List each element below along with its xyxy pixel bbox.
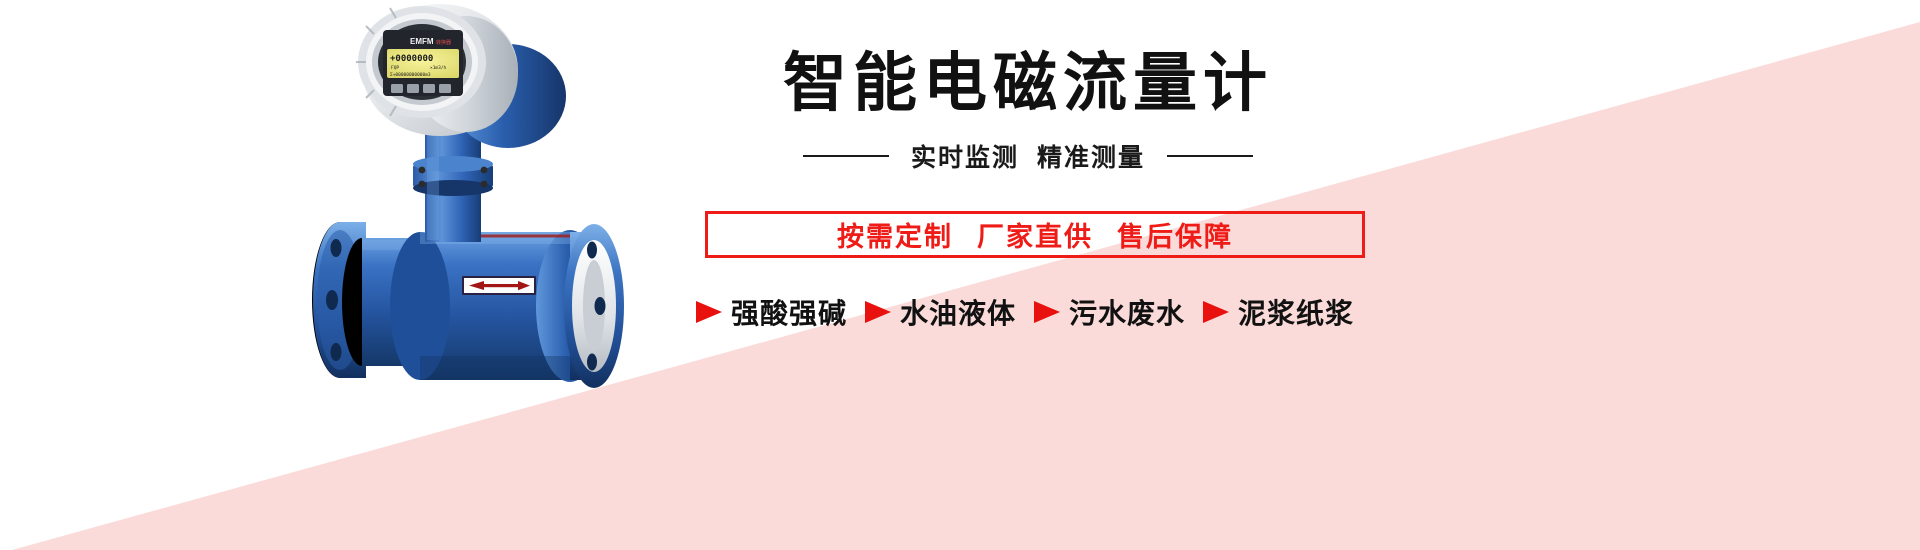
feature-item: 水油液体 [865,292,1016,332]
promo-text: 按需定制厂家直供售后保障 [837,215,1233,254]
converter-housing: EMFM 转换器 +0000000 FQP ×1m3/h Σ+000000000… [356,4,566,148]
triangle-right-icon [696,301,722,323]
subtitle-row: 实时监测精准测量 [678,138,1378,174]
page-title: 智能电磁流量计 [678,48,1378,118]
feature-label: 泥浆纸浆 [1238,292,1354,332]
key-down [423,84,435,93]
promo-item-support: 售后保障 [1117,222,1233,252]
key-enter [439,84,451,93]
feature-item: 强酸强碱 [696,292,847,332]
lcd-main-reading: +0000000 [390,54,433,64]
subtitle-rule-left [803,155,889,157]
promo-badge-box: 按需定制厂家直供售后保障 [705,211,1365,258]
promo-item-custom: 按需定制 [837,222,953,252]
lcd-unit-label: ×1m3/h [430,65,447,71]
converter-brand-label: EMFM [410,37,434,46]
product-banner: EMFM 转换器 +0000000 FQP ×1m3/h Σ+000000000… [0,0,1920,550]
banner-text-column: 智能电磁流量计 实时监测精准测量 按需定制厂家直供售后保障 强酸强碱 水油液体 … [600,0,1440,550]
feature-item: 污水废水 [1034,292,1185,332]
feature-label: 强酸强碱 [731,292,847,332]
triangle-right-icon [865,301,891,323]
triangle-right-icon [1034,301,1060,323]
flow-direction-arrow [462,276,536,295]
subtitle-text: 实时监测精准测量 [911,138,1145,174]
promo-item-factory: 厂家直供 [977,222,1093,252]
lcd-flow-label: FQP [391,65,399,71]
feature-item: 泥浆纸浆 [1203,292,1354,332]
feature-label: 水油液体 [900,292,1016,332]
subtitle-rule-right [1167,155,1253,157]
feature-label: 污水废水 [1069,292,1185,332]
lcd-total-reading: Σ+00000000000m3 [390,72,431,78]
triangle-right-icon [1203,301,1229,323]
key-up [407,84,419,93]
subtitle-right: 精准测量 [1037,144,1145,172]
key-esc [391,84,403,93]
feature-list: 强酸强碱 水油液体 污水废水 泥浆纸浆 [610,292,1440,332]
subtitle-left: 实时监测 [911,144,1019,172]
converter-model-label: 转换器 [436,39,451,46]
